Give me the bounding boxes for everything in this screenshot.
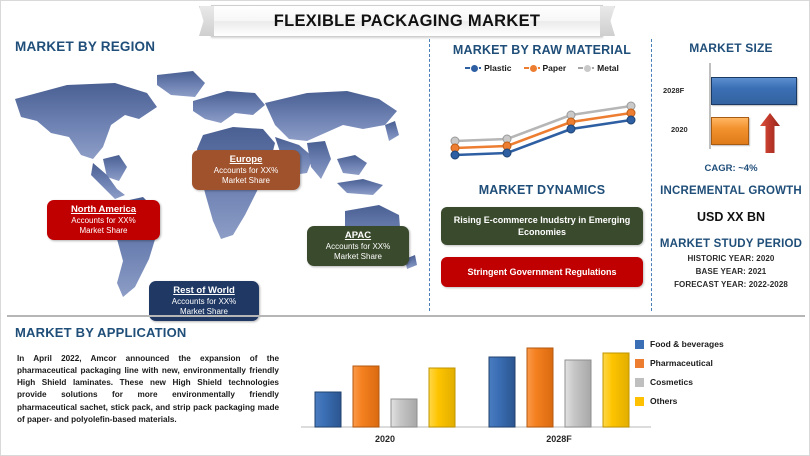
region-tag-name: North America [53,204,154,215]
line-marker-icon [578,67,594,69]
legend-label: Food & beverages [650,339,724,349]
legend-swatch-icon [635,397,644,406]
legend-item-cosmetics: Cosmetics [635,377,805,387]
market-by-region-heading: MARKET BY REGION [15,39,155,54]
bar-2020-pharmaceutical [353,366,379,427]
region-tag-name: APAC [313,230,403,241]
region-tag-line2: Market Share [198,176,294,185]
market-size-panel: MARKET SIZE 2028F 2020 [655,39,807,184]
region-tag-line1: Accounts for XX% [313,242,403,251]
market-study-period-heading: MARKET STUDY PERIOD [653,238,809,250]
legend-swatch-icon [635,359,644,368]
market-size-bar-chart: 2028F 2020 [655,63,807,163]
world-map: North America Accounts for XX% Market Sh… [7,63,421,307]
bar-2028f-cosmetics [565,360,591,427]
market-driver-box: Rising E-commerce Inudstry in Emerging E… [441,207,643,245]
legend-label: Cosmetics [650,377,693,387]
region-tag-line1: Accounts for XX% [53,216,154,225]
bar-2028f [711,77,797,105]
infographic-page: FLEXIBLE PACKAGING MARKET MARKET BY REGI… [0,0,810,456]
study-period-forecast-year: FORECAST YEAR: 2022-2028 [653,280,809,289]
legend-item-plastic: Plastic [465,63,511,73]
raw-material-legend: Plastic Paper Metal [435,63,649,73]
page-title-banner: FLEXIBLE PACKAGING MARKET [211,5,603,37]
page-title: FLEXIBLE PACKAGING MARKET [274,12,541,31]
incremental-growth-heading: INCREMENTAL GROWTH [653,185,809,197]
market-by-raw-material-panel: MARKET BY RAW MATERIAL Plastic Paper Met… [435,39,649,187]
x-axis-label-2028f: 2028F [546,434,572,444]
bar-label-2028f: 2028F [663,86,684,95]
vertical-divider-left [429,39,430,311]
vertical-divider-right [651,39,652,311]
region-tag-line2: Market Share [313,252,403,261]
series-line-paper [455,113,631,148]
bar-2020-others [429,368,455,427]
market-by-application-panel: MARKET BY APPLICATION In April 2022, Amc… [5,321,807,453]
study-period-base-year: BASE YEAR: 2021 [653,267,809,276]
application-body-text: In April 2022, Amcor announced the expan… [17,353,279,426]
region-tag-apac: APAC Accounts for XX% Market Share [307,226,409,266]
study-period-historic-year: HISTORIC YEAR: 2020 [653,254,809,263]
growth-arrow-icon [759,113,781,153]
bar-2028f-others [603,353,629,427]
legend-item-others: Others [635,396,805,406]
bar-2028f-pharmaceutical [527,348,553,427]
bar-2020-cosmetics [391,399,417,427]
market-dynamics-heading: MARKET DYNAMICS [433,183,651,197]
incremental-growth-value: USD XX BN [653,210,809,224]
horizontal-divider [7,315,805,317]
region-tag-line2: Market Share [53,226,154,235]
region-tag-name: Europe [198,154,294,165]
line-marker-icon [465,67,481,69]
application-bar-chart: 2020 2028F [301,335,651,447]
legend-label: Paper [543,63,567,73]
market-size-heading: MARKET SIZE [655,41,807,55]
legend-swatch-icon [635,378,644,387]
legend-label: Plastic [484,63,511,73]
bar-2020-food-beverages [315,392,341,427]
legend-label: Pharmaceutical [650,358,713,368]
x-axis-label-2020: 2020 [375,434,395,444]
legend-label: Others [650,396,677,406]
legend-item-food-beverages: Food & beverages [635,339,805,349]
market-by-application-heading: MARKET BY APPLICATION [15,325,187,340]
bar-2028f-food-beverages [489,357,515,427]
market-dynamics-panel: MARKET DYNAMICS Rising E-commerce Inudst… [433,183,651,311]
bar-label-2020: 2020 [671,125,688,134]
legend-swatch-icon [635,340,644,349]
market-restraint-box: Stringent Government Regulations [441,257,643,287]
incremental-growth-panel: INCREMENTAL GROWTH USD XX BN MARKET STUD… [653,183,809,311]
line-marker-icon [524,67,540,69]
application-legend: Food & beverages Pharmaceutical Cosmetic… [635,339,805,415]
legend-item-metal: Metal [578,63,619,73]
bar-2020 [711,117,749,145]
legend-item-paper: Paper [524,63,567,73]
region-tag-name: Rest of World [155,285,253,296]
market-by-region-panel: MARKET BY REGION [5,37,423,309]
legend-item-pharmaceutical: Pharmaceutical [635,358,805,368]
raw-material-heading: MARKET BY RAW MATERIAL [435,43,649,57]
region-tag-europe: Europe Accounts for XX% Market Share [192,150,300,190]
legend-label: Metal [597,63,619,73]
cagr-value: CAGR: ~4% [655,163,807,174]
raw-material-line-chart [435,91,649,183]
region-tag-line1: Accounts for XX% [155,297,253,306]
region-tag-north-america: North America Accounts for XX% Market Sh… [47,200,160,240]
region-tag-line1: Accounts for XX% [198,166,294,175]
